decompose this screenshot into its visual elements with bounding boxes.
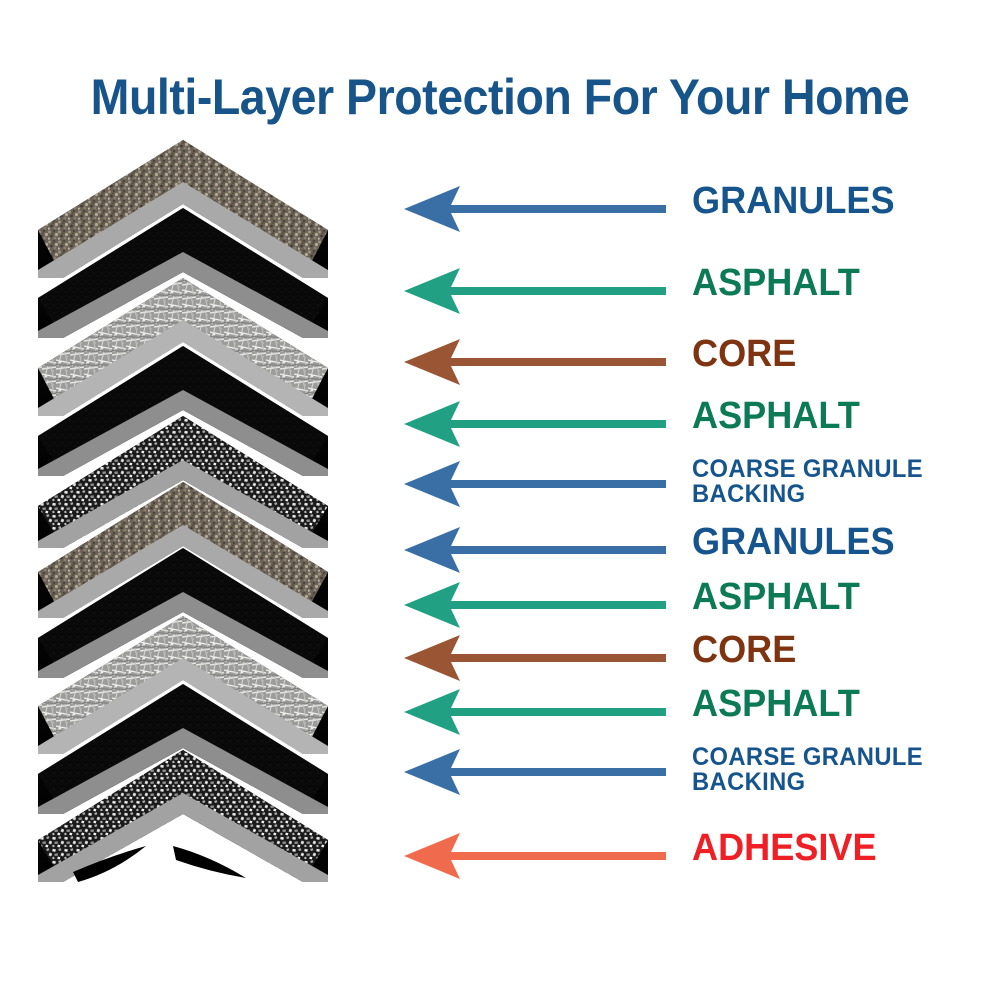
legend-list: GRANULES ASPHALT CORE [0, 0, 1000, 1000]
arrow-left-icon [404, 401, 666, 447]
arrow-left-icon [404, 527, 666, 573]
arrow-left-icon [404, 635, 666, 681]
legend-label: ADHESIVE [692, 830, 877, 867]
arrow-left-icon [404, 833, 666, 879]
arrow-left-icon [404, 749, 666, 795]
legend-label: ASPHALT [692, 398, 860, 435]
arrow-left-icon [404, 461, 666, 507]
arrow-left-icon [404, 582, 666, 628]
legend-label: CORE [692, 336, 796, 373]
legend-label: CORE [692, 632, 796, 669]
arrow-left-icon [404, 186, 666, 232]
arrow-left-icon [404, 339, 666, 385]
legend-label: COARSE GRANULE BACKING [692, 457, 923, 506]
arrow-left-icon [404, 689, 666, 735]
arrow-left-icon [404, 268, 666, 314]
legend-label: GRANULES [692, 524, 895, 561]
legend-label: GRANULES [692, 183, 895, 220]
legend-label: ASPHALT [692, 686, 860, 723]
infographic-canvas: Multi-Layer Protection For Your Home [0, 0, 1000, 1000]
legend-label: COARSE GRANULE BACKING [692, 745, 923, 794]
legend-label: ASPHALT [692, 579, 860, 616]
legend-label: ASPHALT [692, 265, 860, 302]
